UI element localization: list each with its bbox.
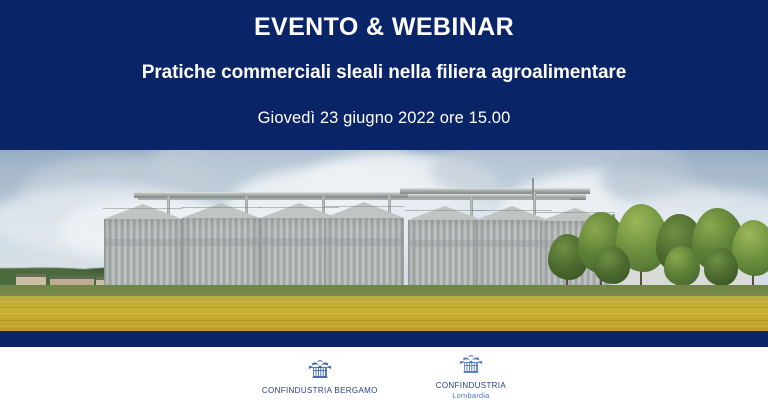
wheat-field xyxy=(0,296,768,331)
tree xyxy=(704,248,738,286)
silo-roof xyxy=(182,203,260,218)
logo-row: CONFINDUSTRIA BERGAMO xyxy=(0,347,768,407)
photo-scene xyxy=(0,150,768,331)
page-title: EVENTO & WEBINAR xyxy=(0,14,768,42)
logo-confindustria-lombardia: CONFINDUSTRIA Lombardia xyxy=(436,354,506,400)
event-poster: EVENTO & WEBINAR Pratiche commerciali sl… xyxy=(0,0,768,407)
hero-photo xyxy=(0,150,768,331)
logo-label-secondary: Lombardia xyxy=(452,391,489,400)
logo-confindustria-bergamo: CONFINDUSTRIA BERGAMO xyxy=(262,359,378,396)
tree xyxy=(594,246,630,284)
silo-roof xyxy=(408,206,482,220)
silo xyxy=(476,220,548,295)
logo-label-primary: CONFINDUSTRIA xyxy=(436,381,506,391)
silo xyxy=(104,219,182,295)
silo-roof xyxy=(104,204,182,219)
confindustria-eagle-icon xyxy=(458,354,484,379)
event-datetime: Giovedì 23 giugno 2022 ore 15.00 xyxy=(0,83,768,128)
header-band: EVENTO & WEBINAR Pratiche commerciali sl… xyxy=(0,0,768,150)
silo-roof xyxy=(324,202,404,218)
gantry-tower xyxy=(532,178,534,200)
gantry-brace xyxy=(138,198,570,200)
tree xyxy=(664,246,700,286)
silo xyxy=(408,220,482,295)
logo-label-primary: CONFINDUSTRIA BERGAMO xyxy=(262,386,378,396)
silo xyxy=(182,218,260,295)
page-subtitle: Pratiche commerciali sleali nella filier… xyxy=(0,42,768,84)
confindustria-eagle-icon xyxy=(307,359,333,384)
silo xyxy=(324,218,404,295)
footer-band xyxy=(0,331,768,347)
silo-roof xyxy=(476,206,548,220)
